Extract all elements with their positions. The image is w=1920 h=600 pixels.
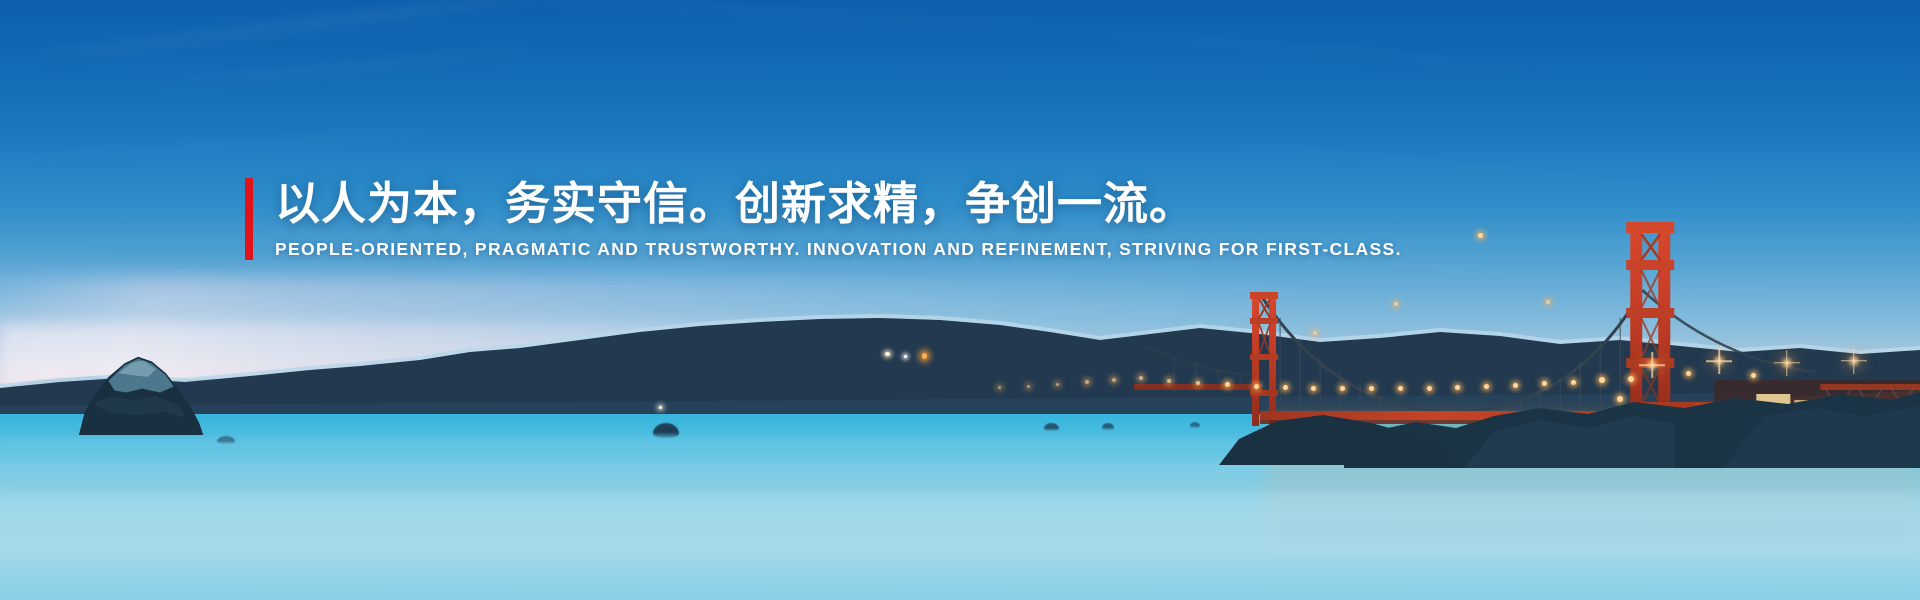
cable-marker-light: [1394, 302, 1398, 306]
ridge-light: [922, 353, 927, 359]
sea-stack-rock: [69, 348, 207, 435]
bridge-lamp: [1283, 385, 1288, 390]
hero-banner: 以人为本，务实守信。创新求精，争创一流。 PEOPLE-ORIENTED, PR…: [0, 0, 1920, 600]
banner-headline: 以人为本，务实守信。创新求精，争创一流。: [275, 178, 1402, 229]
bridge-lamp: [1027, 385, 1030, 388]
ridge-light: [659, 406, 662, 409]
approach-lamp-star: [1718, 360, 1720, 362]
bridge-lamp: [1056, 383, 1059, 386]
bridge-lamp: [1225, 382, 1230, 387]
water-rock: [653, 423, 679, 438]
bridge-lamp: [1254, 384, 1259, 389]
approach-lamp-star: [1853, 360, 1855, 362]
banner-copy-block: 以人为本，务实守信。创新求精，争创一流。 PEOPLE-ORIENTED, PR…: [245, 178, 1402, 260]
water-rock: [1044, 423, 1059, 431]
cable-marker-light: [1546, 300, 1550, 304]
banner-subheadline: PEOPLE-ORIENTED, PRAGMATIC AND TRUSTWORT…: [275, 239, 1402, 260]
water-rock: [217, 436, 235, 444]
bridge-lamp: [1112, 378, 1116, 382]
approach-lamp-star: [1651, 364, 1653, 366]
bridge-lamp: [1139, 376, 1143, 380]
red-accent-bar: [245, 178, 253, 260]
bridge-lamp: [1085, 380, 1089, 384]
water-rock: [1102, 423, 1114, 430]
approach-lamp-star: [1786, 362, 1788, 364]
foreground-rock-mid: [1219, 399, 1449, 465]
